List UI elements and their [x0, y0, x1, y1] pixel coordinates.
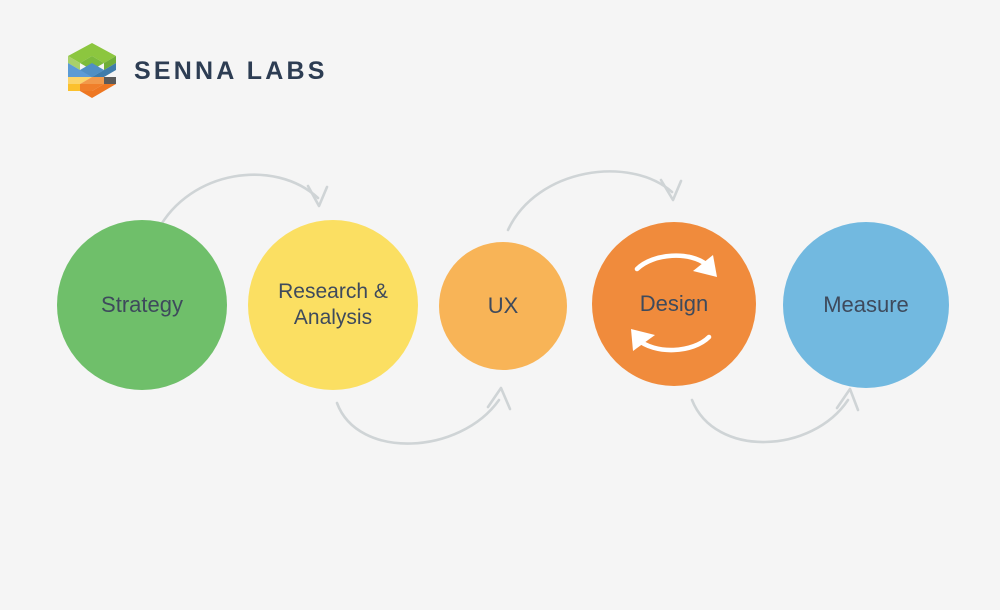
node-research-analysis[interactable]: Research & Analysis — [248, 220, 418, 390]
brand-name: SENNA LABS — [134, 59, 328, 84]
node-ux-label: UX — [488, 292, 519, 320]
diagram-canvas: SENNA LABS — [0, 0, 1000, 610]
node-measure[interactable]: Measure — [783, 222, 949, 388]
node-research-analysis-label: Research & Analysis — [278, 279, 388, 332]
node-strategy-label: Strategy — [101, 291, 183, 319]
brand-logo: SENNA LABS — [66, 42, 328, 100]
connector-design-to-measure — [692, 389, 858, 442]
node-ux[interactable]: UX — [439, 242, 567, 370]
node-design[interactable]: Design — [592, 222, 756, 386]
connector-ux-to-design — [508, 171, 681, 230]
node-measure-label: Measure — [823, 291, 909, 319]
connector-strategy-to-research — [158, 175, 327, 230]
senna-hexagon-s-logo-icon — [66, 42, 118, 100]
node-design-label: Design — [640, 290, 708, 318]
node-strategy[interactable]: Strategy — [57, 220, 227, 390]
connector-research-to-ux — [337, 388, 510, 444]
